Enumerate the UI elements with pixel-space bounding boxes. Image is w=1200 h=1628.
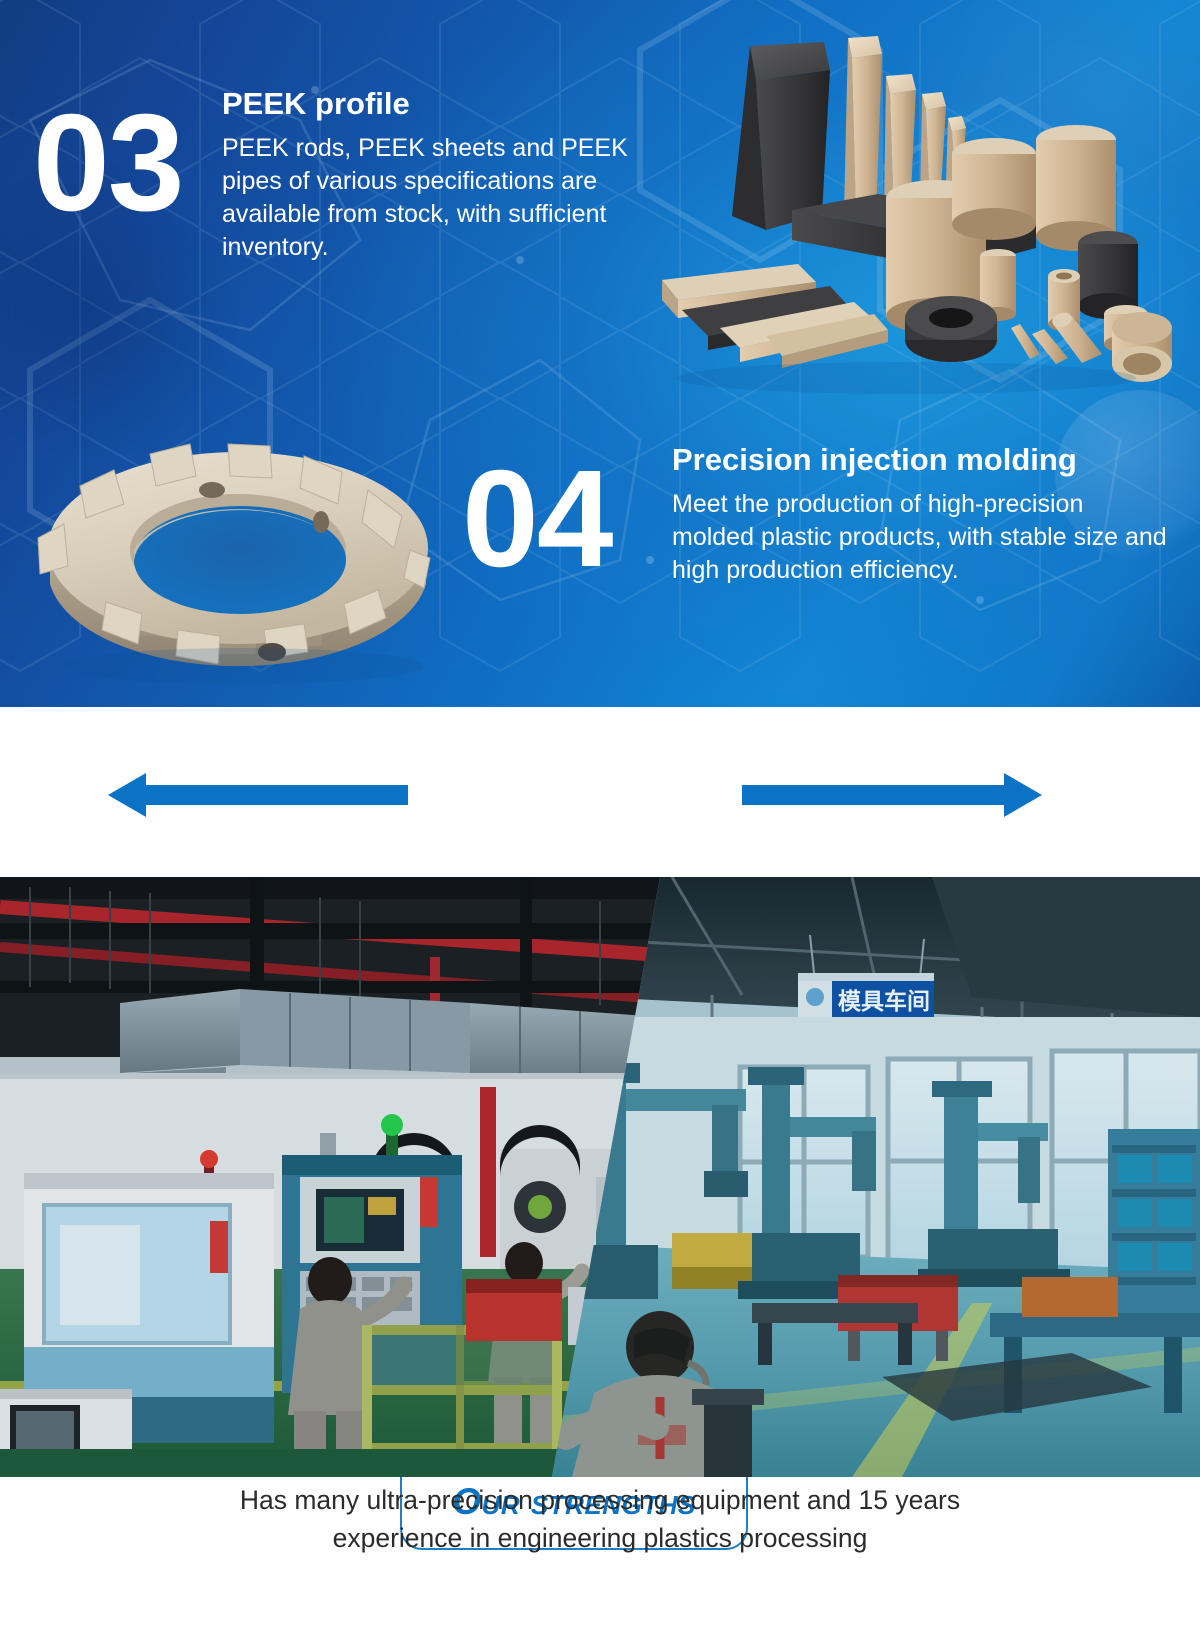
feature-title-03: PEEK profile — [222, 86, 652, 123]
hero-panel: 03 PEEK profile PEEK rods, PEEK sheets a… — [0, 0, 1200, 707]
photo-mold-workshop: 模具车间 Mold Workshop — [552, 877, 1200, 1477]
double-arrow-icon — [0, 707, 1200, 875]
tan-square-bar-1 — [844, 36, 882, 218]
tan-tube-large — [1112, 312, 1172, 382]
caption-line-1: Has many ultra-precision processing equi… — [0, 1482, 1200, 1520]
arrow-left-icon — [108, 773, 408, 817]
product-feature-page: 03 PEEK profile PEEK rods, PEEK sheets a… — [0, 0, 1200, 1628]
feature-text-03: PEEK profile PEEK rods, PEEK sheets and … — [222, 86, 652, 265]
black-ring — [905, 296, 997, 362]
feature-body-03: PEEK rods, PEEK sheets and PEEK pipes of… — [222, 132, 652, 265]
gallery-caption: Has many ultra-precision processing equi… — [0, 1482, 1200, 1557]
feature-number-03: 03 — [33, 94, 183, 232]
caption-line-2: experience in engineering plastics proce… — [0, 1520, 1200, 1558]
feature-block-04: 04 Precision injection molding Meet the … — [0, 440, 1200, 670]
tan-thin-rod-1 — [1011, 324, 1040, 359]
feature-block-03: 03 PEEK profile PEEK rods, PEEK sheets a… — [0, 86, 650, 356]
feature-body-04: Meet the production of high-precision mo… — [672, 488, 1172, 588]
arrow-right-icon — [742, 773, 1042, 817]
feature-number-04: 04 — [462, 450, 612, 588]
feature-text-04: Precision injection molding Meet the pro… — [672, 442, 1172, 587]
peek-profile-products-image — [616, 18, 1196, 398]
strengths-banner: Our strengths — [0, 707, 1200, 875]
photo-cnc-machining-workshop — [0, 877, 660, 1477]
feature-title-04: Precision injection molding — [672, 442, 1172, 479]
factory-photo-gallery: 模具车间 Mold Workshop — [0, 877, 1200, 1477]
black-block-large — [732, 42, 830, 230]
tan-rod-medium-mid — [952, 138, 1036, 240]
